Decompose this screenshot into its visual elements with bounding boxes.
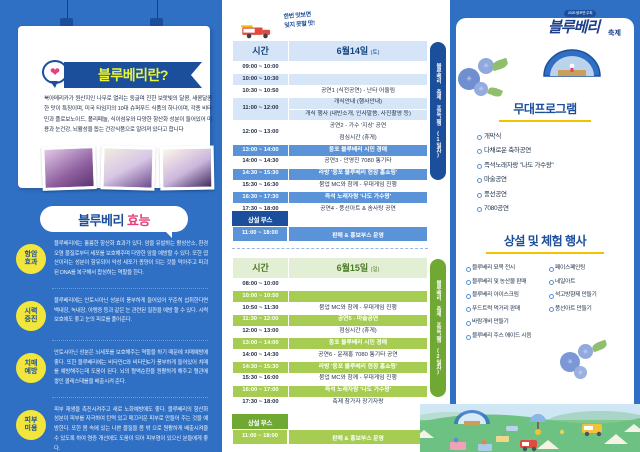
row-desc: 공연2 - 가수 '지상' 공연 [289,121,428,133]
table-row: 12:00 ~ 13:00공연2 - 가수 '지상' 공연 [233,121,428,133]
row-desc: 라방 '웅포 블루베리 현장 홈쇼핑' [289,168,428,180]
divider [52,397,208,398]
experience-events-list-left: 블루베리 묘목 전시 블루베리 및 농산물 판매 블루베리 아이스크림 푸드트럭… [462,264,545,346]
row-desc [289,62,428,74]
efficacy-item: 시력 증진 블루베리에는 안토시아닌 성분이 풍부하게 들어있어 꾸준히 섭취한… [0,297,222,331]
row-time: 11:00 ~ 12:00 [233,97,289,121]
intro-card: ❤ 블루베리란? 북아메리카가 원산지인 나무로 열리는 둥글며 진한 보랏빛의… [18,26,210,188]
table-row: 15:30 ~ 16:30붐업 MC와 함께 - 무대게임 진행 [233,180,428,192]
row-time: 14:30 ~ 15:30 [233,168,289,180]
row-desc: 웅포 블루베리 시민 경매 [289,338,428,350]
row-desc: 붐업 MC와 함께 - 무대게임 진행 [289,180,428,192]
row-desc [289,279,428,291]
row-time: 16:30 ~ 17:30 [233,192,289,204]
row-time: 17:30 ~ 18:00 [233,397,289,409]
row-time: 12:00 ~ 13:00 [233,326,289,338]
booth-desc: 판매 & 홍보부스 운영 [288,429,428,445]
row-desc: 붐업 MC와 함께 - 무대게임 진행 [289,373,428,385]
efficacy-title-part2: 효능 [127,213,150,228]
table-row: 17:30 ~ 18:00축제 참가자 장기자랑 [233,397,428,409]
header-date: 6월15일 (일) [289,258,428,279]
list-item: 바람개비 만들기 [472,318,545,326]
efficacy-badge: 치매 예방 [16,353,46,383]
list-item: 블루베리 묘목 전시 [472,264,545,272]
list-item: 풍선공연 [484,190,624,199]
table-row: 14:00 ~ 14:30공연6 - 윤재홍 7080 통기타 공연 [233,350,428,362]
row-desc [289,291,428,303]
photo-thumbnail [41,145,97,191]
stage-program-title: 무대프로그램 [466,100,624,117]
efficacy-item: 항암 효과 블루베리에는 훌륭한 항산화 효과가 있다. 암을 유발하는 활성산… [0,240,222,279]
day1-side-tab: 블루베리 축제 프로그램 (1일차) [430,42,446,180]
table-row: 12:00 ~ 13:00점심시간 (휴게) [233,326,428,338]
table-row: 08:00 ~ 10:00 [233,279,428,291]
table-row: 10:00 ~ 10:30 [233,74,428,86]
row-desc: 붐업 MC와 함께 - 무대게임 진행 [289,303,428,315]
efficacy-text: 안토시아닌 성분은 뇌세포를 보호해주는 역할을 하기 때문에 치매예방에 좋다… [54,349,208,388]
table-row: 14:00 ~ 14:30공연3 - 안영진 7080 통기타 [233,156,428,168]
efficacy-text: 블루베리에는 훌륭한 항산화 효과가 있다. 암을 유발하는 활성산소, 환경오… [54,240,208,279]
header-date-sub: (토) [371,50,380,56]
header-date-label: 6월15일 [337,263,369,273]
list-item: 페이스페인팅 [555,264,628,272]
table-row: 16:30 ~ 17:30즉석 노래자랑 '나도 가수왕' [233,192,428,204]
row-time: 14:30 ~ 15:30 [233,362,289,374]
booth-row: 11:00 ~ 18:00 판매 & 홍보부스 운영 [232,226,428,242]
efficacy-badge-line2: 효과 [25,259,38,267]
list-item: 개막식 [484,132,624,141]
efficacy-badge-line1: 항암 [25,251,38,259]
experience-events-list-right: 페이스페인팅 네일아트 석고방향제 만들기 풍선아트 만들기 [545,264,628,346]
list-item: 마술공연 [484,175,624,184]
table-row: 10:30 ~ 10:50공연1 (식전공연) - 난타 어울림 [233,86,428,98]
experience-events-columns: 블루베리 묘목 전시 블루베리 및 농산물 판매 블루베리 아이스크림 푸드트럭… [462,264,628,346]
day2-side-tab: 블루베리 축제 프로그램 (2일차) [430,259,446,397]
table-row: 14:30 ~ 15:30라방 '웅포 블루베리 현장 홈쇼핑' [233,362,428,374]
photo-thumbnail [100,145,155,190]
list-item: 네일아트 [555,278,628,286]
list-item: 푸드트럭 먹거리 판매 [472,305,545,313]
row-time: 10:00 ~ 10:30 [233,74,289,86]
list-item: 7080공연 [484,204,624,213]
row-time: 15:30 ~ 16:30 [233,180,289,192]
booth-label: 상설 부스 [232,414,288,429]
blueberry-icon [474,82,488,96]
row-time: 13:00 ~ 14:00 [233,145,289,157]
table-row: 10:50 ~ 11:30붐업 MC와 함께 - 무대게임 진행 [233,303,428,315]
stage-program-section: 무대프로그램 개막식 다채로운 축하공연 즉석노래자랑 "나도 가수왕" 마술공… [466,100,624,219]
efficacy-badge-line2: 증진 [25,316,38,324]
table-row: 13:00 ~ 14:00웅포 블루베리 시민 경매 [233,338,428,350]
booth-time: 11:00 ~ 18:00 [232,429,288,445]
header-date-sub: (일) [371,267,380,273]
blueberry-icon [578,344,593,359]
row-time: 11:30 ~ 12:00 [233,314,289,326]
efficacy-item: 치매 예방 안토시아닌 성분은 뇌세포를 보호해주는 역할을 하기 때문에 치매… [0,349,222,388]
efficacy-text: 피부 재생을 촉진시켜주고 새로 노화예방에도 좋다. 블루베리의 항산화 성분… [54,406,208,452]
booth-section-day1: 상설 부스 11:00 ~ 18:00 판매 & 홍보부스 운영 [232,211,428,249]
efficacy-badge-line1: 피부 [25,417,38,425]
efficacy-badge-line2: 예방 [25,368,38,376]
row-time: 13:00 ~ 14:00 [233,338,289,350]
festival-field-illustration [420,404,640,452]
table-row: 11:00 ~ 12:00개식안내 (행사안내) [233,97,428,109]
efficacy-text: 블루베리에는 안토시아닌 성분이 풍부하게 들어있어 꾸준히 섭취한다면 백내장… [54,297,208,331]
handwritten-note-text: 한번 맛보면 잊지 못할 맛! [283,11,315,32]
row-desc: 웅포 블루베리 시민 경매 [289,145,428,157]
schedule-table-day2: 시간 6월15일 (일) 08:00 ~ 10:00 10:00 ~ 10:50… [232,257,428,409]
table-header-row: 시간 6월15일 (일) [233,258,428,279]
header-date: 6월14일 (토) [289,41,428,62]
row-time: 10:30 ~ 10:50 [233,86,289,98]
intro-card-body: 북아메리카가 원산지인 나무로 열리는 둥글며 진한 보랏빛의 달콤, 새콤달콤… [44,94,212,135]
row-desc: 점심시간 (휴게) [289,133,428,145]
handwritten-note: 한번 맛보면 잊지 못할 맛! [236,10,386,42]
row-desc [289,74,428,86]
booth-label: 상설 부스 [232,211,288,226]
row-desc: 점심시간 (휴게) [289,326,428,338]
list-item: 석고방향제 만들기 [555,291,628,299]
efficacy-title-part1: 블루베리 [78,213,127,228]
table-row: 14:30 ~ 15:30라방 '웅포 블루베리 현장 홈쇼핑' [233,168,428,180]
table-row: 15:30 ~ 16:00붐업 MC와 함께 - 무대게임 진행 [233,373,428,385]
row-time: 16:00 ~ 17:00 [233,385,289,397]
festival-logo: 2025 웅포면 주최 블루베리 축제 [540,6,636,46]
festival-logo-name: 블루베리 [548,16,599,37]
photo-gallery [42,146,214,190]
header-time: 시간 [233,258,289,279]
row-desc: 공연6 - 윤재홍 7080 통기타 공연 [289,350,428,362]
row-desc: 공연5 - 마술공연 [289,314,428,326]
row-desc: 개식안내 (행사안내) [289,97,428,109]
table-row: 09:00 ~ 10:00 [233,62,428,74]
efficacy-badge-line2: 미용 [25,425,38,433]
list-item: 풍선아트 만들기 [555,305,628,313]
intro-card-title-label: 블루베리란? [98,65,168,85]
blueberry-icon [574,366,587,379]
header-date-label: 6월14일 [337,46,369,56]
booth-time: 11:00 ~ 18:00 [232,226,288,242]
intro-card-title: 블루베리란? [64,62,202,88]
efficacy-badge-line1: 치매 [25,360,38,368]
row-time: 14:00 ~ 14:30 [233,156,289,168]
row-time: 10:50 ~ 11:30 [233,303,289,315]
booth-row: 11:00 ~ 18:00 판매 & 홍보부스 운영 [232,429,428,445]
efficacy-title: 블루베리 효능 [40,206,188,232]
row-time: 12:00 ~ 13:00 [233,121,289,145]
list-item: 즉석노래자랑 "나도 가수왕" [484,161,624,170]
table-row: 11:30 ~ 12:00공연5 - 마술공연 [233,314,428,326]
experience-events-section: 상설 및 체험 행사 블루베리 묘목 전시 블루베리 및 농산물 판매 블루베리… [462,232,628,346]
festival-logo-kind: 축제 [608,28,621,38]
efficacy-item: 피부 미용 피부 재생을 촉진시켜주고 새로 노화예방에도 좋다. 블루베리의 … [0,406,222,452]
row-desc: 개식 행사 (내빈소개, 인사말씀, 사진촬영 등) [289,109,428,121]
efficacy-badge: 피부 미용 [16,410,46,440]
row-desc: 즉석 노래자랑 '나도 가수왕' [289,192,428,204]
header-time: 시간 [233,41,289,62]
row-time: 15:30 ~ 16:00 [233,373,289,385]
table-row: 16:00 ~ 17:00즉석 노래자랑 '나도 가수왕' [233,385,428,397]
booth-section-day2: 상설 부스 11:00 ~ 18:00 판매 & 홍보부스 운영 [232,414,428,445]
list-item: 다채로운 축하공연 [484,146,624,155]
booth-desc: 판매 & 홍보부스 운영 [288,226,428,242]
row-desc: 공연1 (식전공연) - 난타 어울림 [289,86,428,98]
list-item: 블루베리 주스 에이드 시음 [472,332,545,340]
food-truck-icon [240,23,274,40]
row-desc: 공연3 - 안영진 7080 통기타 [289,156,428,168]
row-time: 14:00 ~ 14:30 [233,350,289,362]
divider [232,248,428,249]
efficacy-badge: 항암 효과 [16,244,46,274]
schedule-table-day1: 시간 6월14일 (토) 09:00 ~ 10:00 10:00 ~ 10:30… [232,40,428,216]
efficacy-list: 항암 효과 블루베리에는 훌륭한 항산화 효과가 있다. 암을 유발하는 활성산… [0,240,222,452]
row-time: 08:00 ~ 10:00 [233,279,289,291]
row-time: 09:00 ~ 10:00 [233,62,289,74]
experience-events-title: 상설 및 체험 행사 [462,232,628,249]
table-row: 13:00 ~ 14:00웅포 블루베리 시민 경매 [233,145,428,157]
stage-dome-icon [540,44,604,78]
efficacy-badge: 시력 증진 [16,301,46,331]
row-desc: 라방 '웅포 블루베리 현장 홈쇼핑' [289,362,428,374]
list-item: 블루베리 및 농산물 판매 [472,278,545,286]
photo-thumbnail [160,146,215,191]
title-underline [499,120,591,122]
divider [52,288,208,289]
stage-program-list: 개막식 다채로운 축하공연 즉석노래자랑 "나도 가수왕" 마술공연 풍선공연 … [466,132,624,214]
title-underline [486,252,604,254]
table-header-row: 시간 6월14일 (토) [233,41,428,62]
row-desc: 즉석 노래자랑 '나도 가수왕' [289,385,428,397]
table-row: 10:00 ~ 10:50 [233,291,428,303]
list-item: 블루베리 아이스크림 [472,291,545,299]
divider [52,340,208,341]
row-desc: 축제 참가자 장기자랑 [289,397,428,409]
row-time: 10:00 ~ 10:50 [233,291,289,303]
efficacy-badge-line1: 시력 [25,308,38,316]
